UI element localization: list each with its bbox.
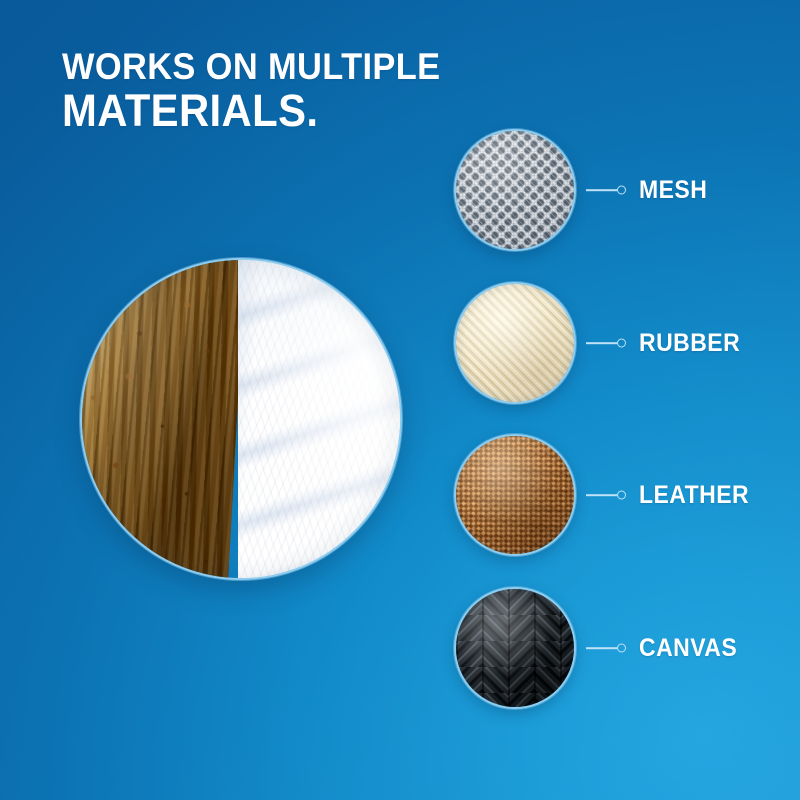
connector-rubber [586,336,626,350]
material-row-leather: LEATHER [454,433,800,557]
connector-line-icon [586,189,617,191]
hero-clean-half [238,258,400,580]
connector-dot-icon [617,339,626,348]
canvas-texture [456,589,574,707]
connector-line-icon [586,342,617,344]
connector-dot-icon [617,491,626,500]
connector-canvas [586,641,626,655]
material-label-rubber: RUBBER [639,331,740,356]
material-row-mesh: MESH [454,128,800,252]
rubber-texture [456,284,574,402]
connector-dot-icon [617,186,626,195]
mesh-swatch [454,129,576,251]
material-row-rubber: RUBBER [454,281,800,405]
promo-graphic: WORKS ON MULTIPLE MATERIALS. MESH RU [0,0,800,800]
connector-dot-icon [617,644,626,653]
hero-dirty-half [80,258,247,580]
connector-mesh [586,183,626,197]
headline-line-1: WORKS ON MULTIPLE [62,49,440,85]
mesh-texture [456,131,574,249]
connector-line-icon [586,494,617,496]
before-after-hero-image [80,258,402,580]
canvas-swatch [454,587,576,709]
headline-line-2: MATERIALS. [62,89,440,133]
material-label-leather: LEATHER [639,483,749,508]
leather-swatch [454,434,576,556]
material-label-mesh: MESH [639,178,707,203]
leather-texture [456,436,574,554]
connector-leather [586,488,626,502]
material-label-canvas: CANVAS [639,636,737,661]
rubber-swatch [454,282,576,404]
connector-line-icon [586,647,617,649]
hero-inner [82,260,400,578]
material-row-canvas: CANVAS [454,586,800,710]
page-title: WORKS ON MULTIPLE MATERIALS. [62,49,469,133]
